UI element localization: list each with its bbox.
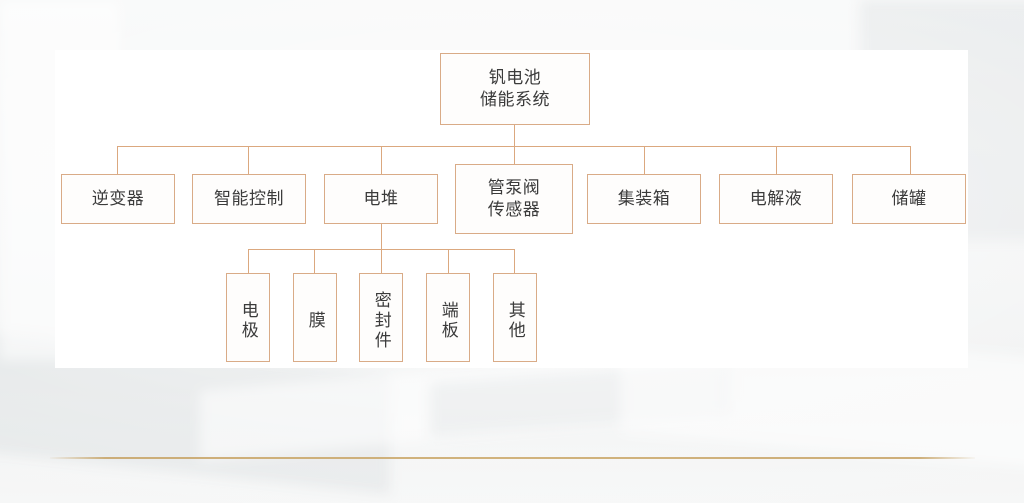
node-end-plate[interactable]: 端板 xyxy=(426,273,470,362)
node-container[interactable]: 集装箱 xyxy=(587,174,701,224)
connector-drop-electrode xyxy=(248,249,249,273)
node-root-line1: 钒电池 xyxy=(489,67,542,89)
node-electrolyte-label: 电解液 xyxy=(750,188,803,210)
bottom-divider-rule xyxy=(50,457,975,459)
slide-canvas: 钒电池 储能系统 逆变器 智能控制 电堆 管泵阀 传感器 集装箱 电解液 储罐 … xyxy=(0,0,1024,503)
node-pipe-pump-valve-sensor-line2: 传感器 xyxy=(488,199,541,221)
node-other-label: 其他 xyxy=(505,301,525,341)
node-seal-label: 密封件 xyxy=(371,291,391,351)
node-electrolyte[interactable]: 电解液 xyxy=(719,174,833,224)
node-container-label: 集装箱 xyxy=(618,188,671,210)
connector-stack-stem xyxy=(381,224,382,249)
node-stack[interactable]: 电堆 xyxy=(324,174,438,224)
node-electrode[interactable]: 电极 xyxy=(226,273,270,362)
diagram-panel: 钒电池 储能系统 逆变器 智能控制 电堆 管泵阀 传感器 集装箱 电解液 储罐 … xyxy=(55,50,968,368)
node-pipe-pump-valve-sensor-line1: 管泵阀 xyxy=(488,177,541,199)
node-inverter[interactable]: 逆变器 xyxy=(61,174,175,224)
connector-drop-electrolyte xyxy=(776,146,777,174)
connector-drop-container xyxy=(644,146,645,174)
node-storage-tank[interactable]: 储罐 xyxy=(852,174,966,224)
connector-drop-seal xyxy=(381,249,382,273)
node-seal[interactable]: 密封件 xyxy=(359,273,403,362)
node-membrane-label: 膜 xyxy=(305,311,325,331)
connector-drop-membrane xyxy=(314,249,315,273)
node-smart-control[interactable]: 智能控制 xyxy=(192,174,306,224)
node-electrode-label: 电极 xyxy=(238,301,258,341)
connector-drop-stack xyxy=(381,146,382,174)
node-root[interactable]: 钒电池 储能系统 xyxy=(440,53,590,125)
connector-drop-pipe-pump-valve-sensor xyxy=(514,146,515,164)
node-membrane[interactable]: 膜 xyxy=(293,273,337,362)
node-storage-tank-label: 储罐 xyxy=(892,188,927,210)
node-smart-control-label: 智能控制 xyxy=(214,188,284,210)
connector-drop-smart-control xyxy=(248,146,249,174)
connector-drop-storage-tank xyxy=(910,146,911,174)
connector-drop-other xyxy=(514,249,515,273)
connector-drop-end-plate xyxy=(448,249,449,273)
node-other[interactable]: 其他 xyxy=(493,273,537,362)
node-pipe-pump-valve-sensor[interactable]: 管泵阀 传感器 xyxy=(455,164,573,234)
connector-drop-inverter xyxy=(117,146,118,174)
node-root-line2: 储能系统 xyxy=(480,89,550,111)
node-inverter-label: 逆变器 xyxy=(92,188,145,210)
node-end-plate-label: 端板 xyxy=(438,301,458,341)
node-stack-label: 电堆 xyxy=(364,188,399,210)
connector-root-stem xyxy=(514,125,515,146)
